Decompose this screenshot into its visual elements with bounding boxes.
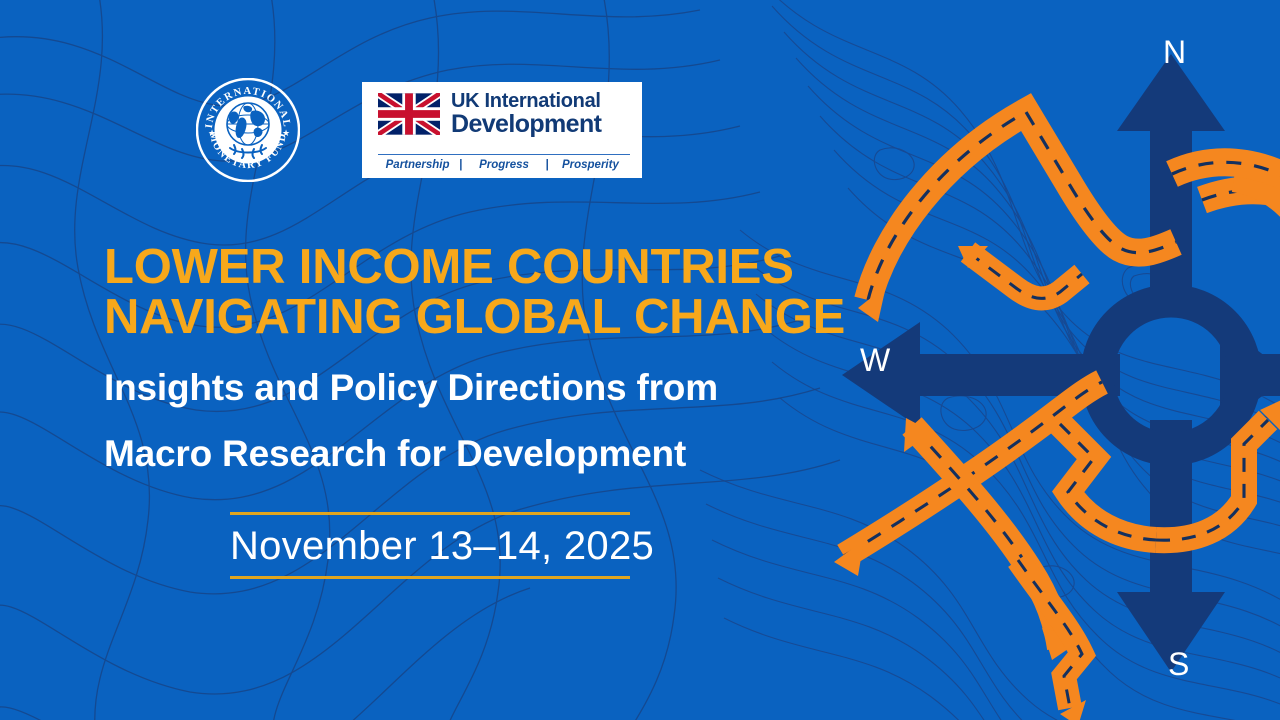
svg-text:★: ★ xyxy=(208,128,216,138)
page-subtitle-line1: Insights and Policy Directions from xyxy=(104,367,864,409)
headline-block: LOWER INCOME COUNTRIES NAVIGATING GLOBAL… xyxy=(104,243,864,475)
uk-logo-line2: Development xyxy=(451,112,601,137)
svg-text:★: ★ xyxy=(282,128,290,138)
event-date-block: November 13–14, 2025 xyxy=(230,512,630,579)
uk-tagline-progress: Progress xyxy=(464,159,543,171)
uk-tagline-prosperity: Prosperity xyxy=(551,159,630,171)
logo-row: INTERNATIONAL MONETARY FUND ★ ★ xyxy=(196,78,642,182)
event-banner: N W S xyxy=(0,0,1280,720)
union-jack-flag xyxy=(378,93,440,135)
imf-logo: INTERNATIONAL MONETARY FUND ★ ★ xyxy=(196,78,300,182)
compass-label-south: S xyxy=(1168,646,1189,683)
page-subtitle-line2: Macro Research for Development xyxy=(104,433,864,475)
compass-label-west: W xyxy=(860,342,890,379)
compass-label-north: N xyxy=(1163,34,1186,71)
uk-logo-tagline: Partnership | Progress | Prosperity xyxy=(378,154,630,171)
event-date: November 13–14, 2025 xyxy=(230,515,630,576)
uk-international-development-logo: UK International Development Partnership… xyxy=(362,82,642,178)
uk-tagline-sep-2: | xyxy=(544,159,551,171)
uk-tagline-sep-1: | xyxy=(457,159,464,171)
page-title-line2: NAVIGATING GLOBAL CHANGE xyxy=(104,293,864,343)
date-rule-bottom xyxy=(230,576,630,579)
page-title-line1: LOWER INCOME COUNTRIES xyxy=(104,243,864,293)
uk-tagline-partnership: Partnership xyxy=(378,159,457,171)
uk-logo-line1: UK International xyxy=(451,91,601,111)
